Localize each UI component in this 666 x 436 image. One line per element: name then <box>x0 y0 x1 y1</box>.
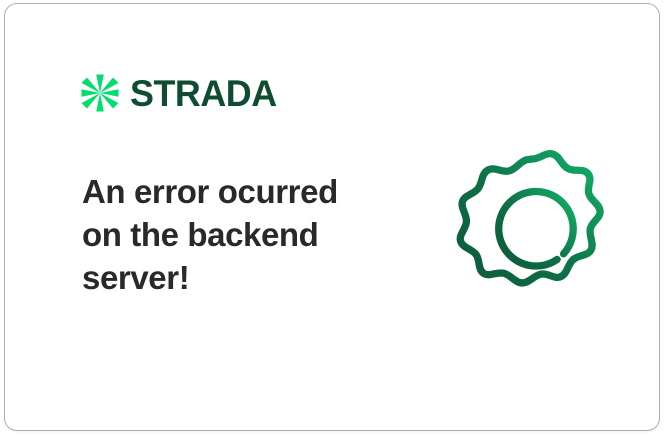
error-illustration <box>451 140 613 306</box>
brand-lockup: STRADA <box>79 72 281 114</box>
error-card: STRADA An error ocurred on the backend s… <box>4 3 660 431</box>
error-screen: STRADA An error ocurred on the backend s… <box>0 0 666 436</box>
brand-wordmark: STRADA <box>130 75 277 112</box>
error-headline: An error ocurred on the backend server! <box>82 170 382 299</box>
strada-starburst-icon <box>79 72 121 114</box>
gear-outline-icon <box>451 140 613 306</box>
